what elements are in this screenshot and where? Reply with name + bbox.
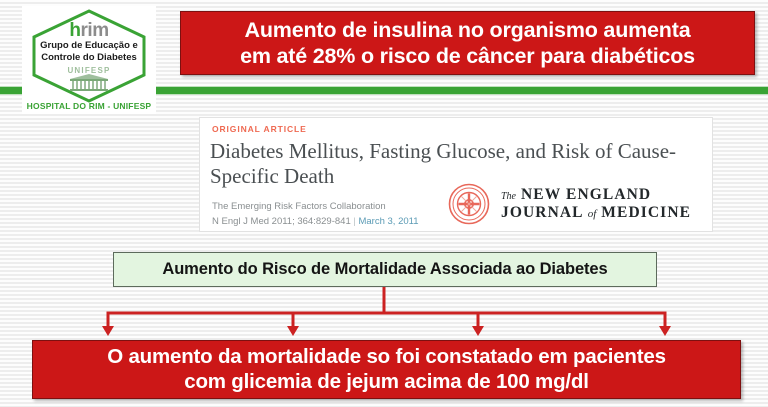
nejm-wordmark: The NEW ENGLAND JOURNAL of MEDICINE bbox=[501, 186, 691, 223]
header-banner-line1: Aumento de insulina no organismo aumenta bbox=[240, 17, 695, 43]
institution-logo: hrim Grupo de Educação e Controle do Dia… bbox=[22, 6, 156, 114]
header-banner-text: Aumento de insulina no organismo aumenta… bbox=[230, 17, 705, 69]
logo-group-title: Grupo de Educação e Controle do Diabetes bbox=[28, 40, 150, 64]
nejm-the: The bbox=[501, 191, 516, 202]
footer-banner-line1: O aumento da mortalidade so foi constata… bbox=[107, 345, 666, 370]
article-card: ORIGINAL ARTICLE Diabetes Mellitus, Fast… bbox=[199, 117, 713, 232]
header-banner: Aumento de insulina no organismo aumenta… bbox=[180, 11, 755, 75]
logo-group-title-line1: Grupo de Educação e bbox=[28, 40, 150, 52]
nejm-new-england: NEW ENGLAND bbox=[521, 186, 651, 203]
slide-canvas: hrim Grupo de Educação e Controle do Dia… bbox=[0, 0, 768, 407]
logo-wordmark: hrim bbox=[22, 21, 156, 40]
footer-banner-line2: com glicemia de jejum acima de 100 mg/dl bbox=[107, 370, 666, 395]
article-citation-separator: | bbox=[353, 216, 355, 227]
article-authors: The Emerging Risk Factors Collaboration bbox=[212, 200, 419, 215]
logo-wordmark-h: h bbox=[69, 20, 80, 41]
nejm-logo: The NEW ENGLAND JOURNAL of MEDICINE bbox=[448, 180, 710, 228]
header-banner-line2: em até 28% o risco de câncer para diabét… bbox=[240, 43, 695, 69]
nejm-line2: JOURNAL of MEDICINE bbox=[501, 204, 691, 222]
footer-banner-text: O aumento da mortalidade so foi constata… bbox=[97, 345, 676, 394]
nejm-of: of bbox=[588, 208, 597, 220]
nejm-journal: JOURNAL bbox=[501, 204, 583, 221]
article-date: March 3, 2011 bbox=[358, 216, 418, 227]
logo-wordmark-rim: rim bbox=[81, 20, 109, 41]
article-citation: N Engl J Med 2011; 364:829-841 bbox=[212, 216, 351, 227]
logo-footer-label: HOSPITAL DO RIM - UNIFESP bbox=[22, 101, 156, 111]
nejm-line1: The NEW ENGLAND bbox=[501, 186, 691, 204]
footer-banner: O aumento da mortalidade so foi constata… bbox=[32, 340, 741, 399]
article-meta: The Emerging Risk Factors Collaboration … bbox=[212, 200, 419, 229]
mortality-risk-statement-text: Aumento do Risco de Mortalidade Associad… bbox=[162, 260, 607, 279]
logo-group-title-line2: Controle do Diabetes bbox=[28, 52, 150, 64]
article-citation-line: N Engl J Med 2011; 364:829-841 | March 3… bbox=[212, 215, 419, 230]
nejm-medicine: MEDICINE bbox=[601, 204, 691, 221]
nejm-seal-icon bbox=[448, 183, 490, 225]
mortality-risk-statement-box: Aumento do Risco de Mortalidade Associad… bbox=[113, 252, 657, 287]
article-kicker: ORIGINAL ARTICLE bbox=[212, 124, 307, 134]
university-building-icon bbox=[67, 74, 111, 92]
